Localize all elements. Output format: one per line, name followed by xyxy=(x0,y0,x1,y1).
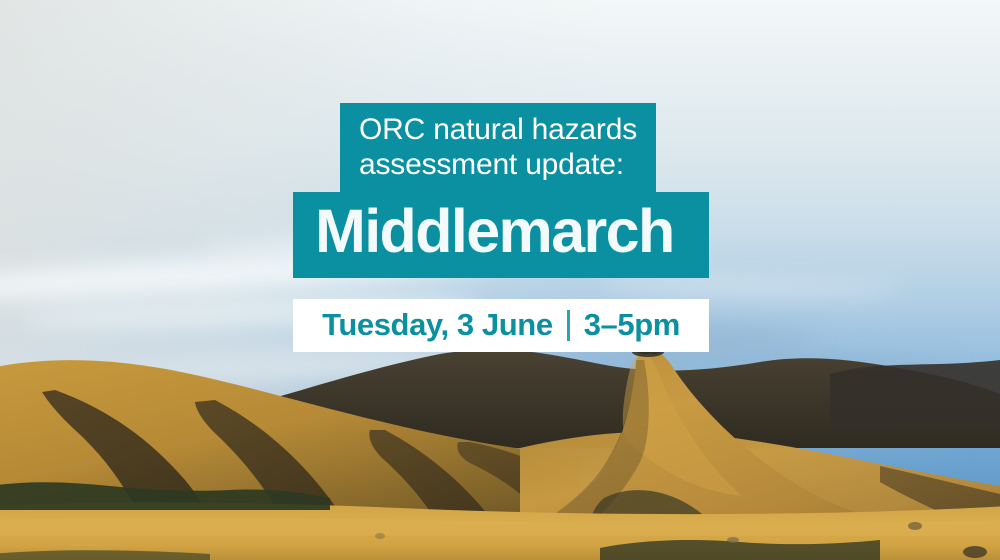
rock xyxy=(963,546,987,558)
separator-pipe-icon xyxy=(567,310,570,341)
event-poster: ORC natural hazards assessment update: M… xyxy=(0,0,1000,560)
landscape-svg xyxy=(0,330,1000,560)
event-date: Tuesday, 3 June xyxy=(322,307,553,343)
far-ridge-right xyxy=(830,360,1000,430)
event-time: 3–5pm xyxy=(584,307,680,343)
kicker-box: ORC natural hazards assessment update: xyxy=(340,103,656,192)
rock xyxy=(727,537,739,543)
landscape-photo xyxy=(0,330,1000,560)
kicker-line-1: ORC natural hazards xyxy=(359,112,637,147)
date-time-bar: Tuesday, 3 June 3–5pm xyxy=(293,299,709,352)
rock xyxy=(908,522,922,530)
date-time-line: Tuesday, 3 June 3–5pm xyxy=(322,307,680,343)
page-title: Middlemarch xyxy=(315,198,687,264)
kicker-line-2: assessment update: xyxy=(359,147,637,182)
rock xyxy=(375,533,385,539)
poster-text-stack: ORC natural hazards assessment update: M… xyxy=(293,103,709,352)
title-box: Middlemarch xyxy=(293,192,709,278)
